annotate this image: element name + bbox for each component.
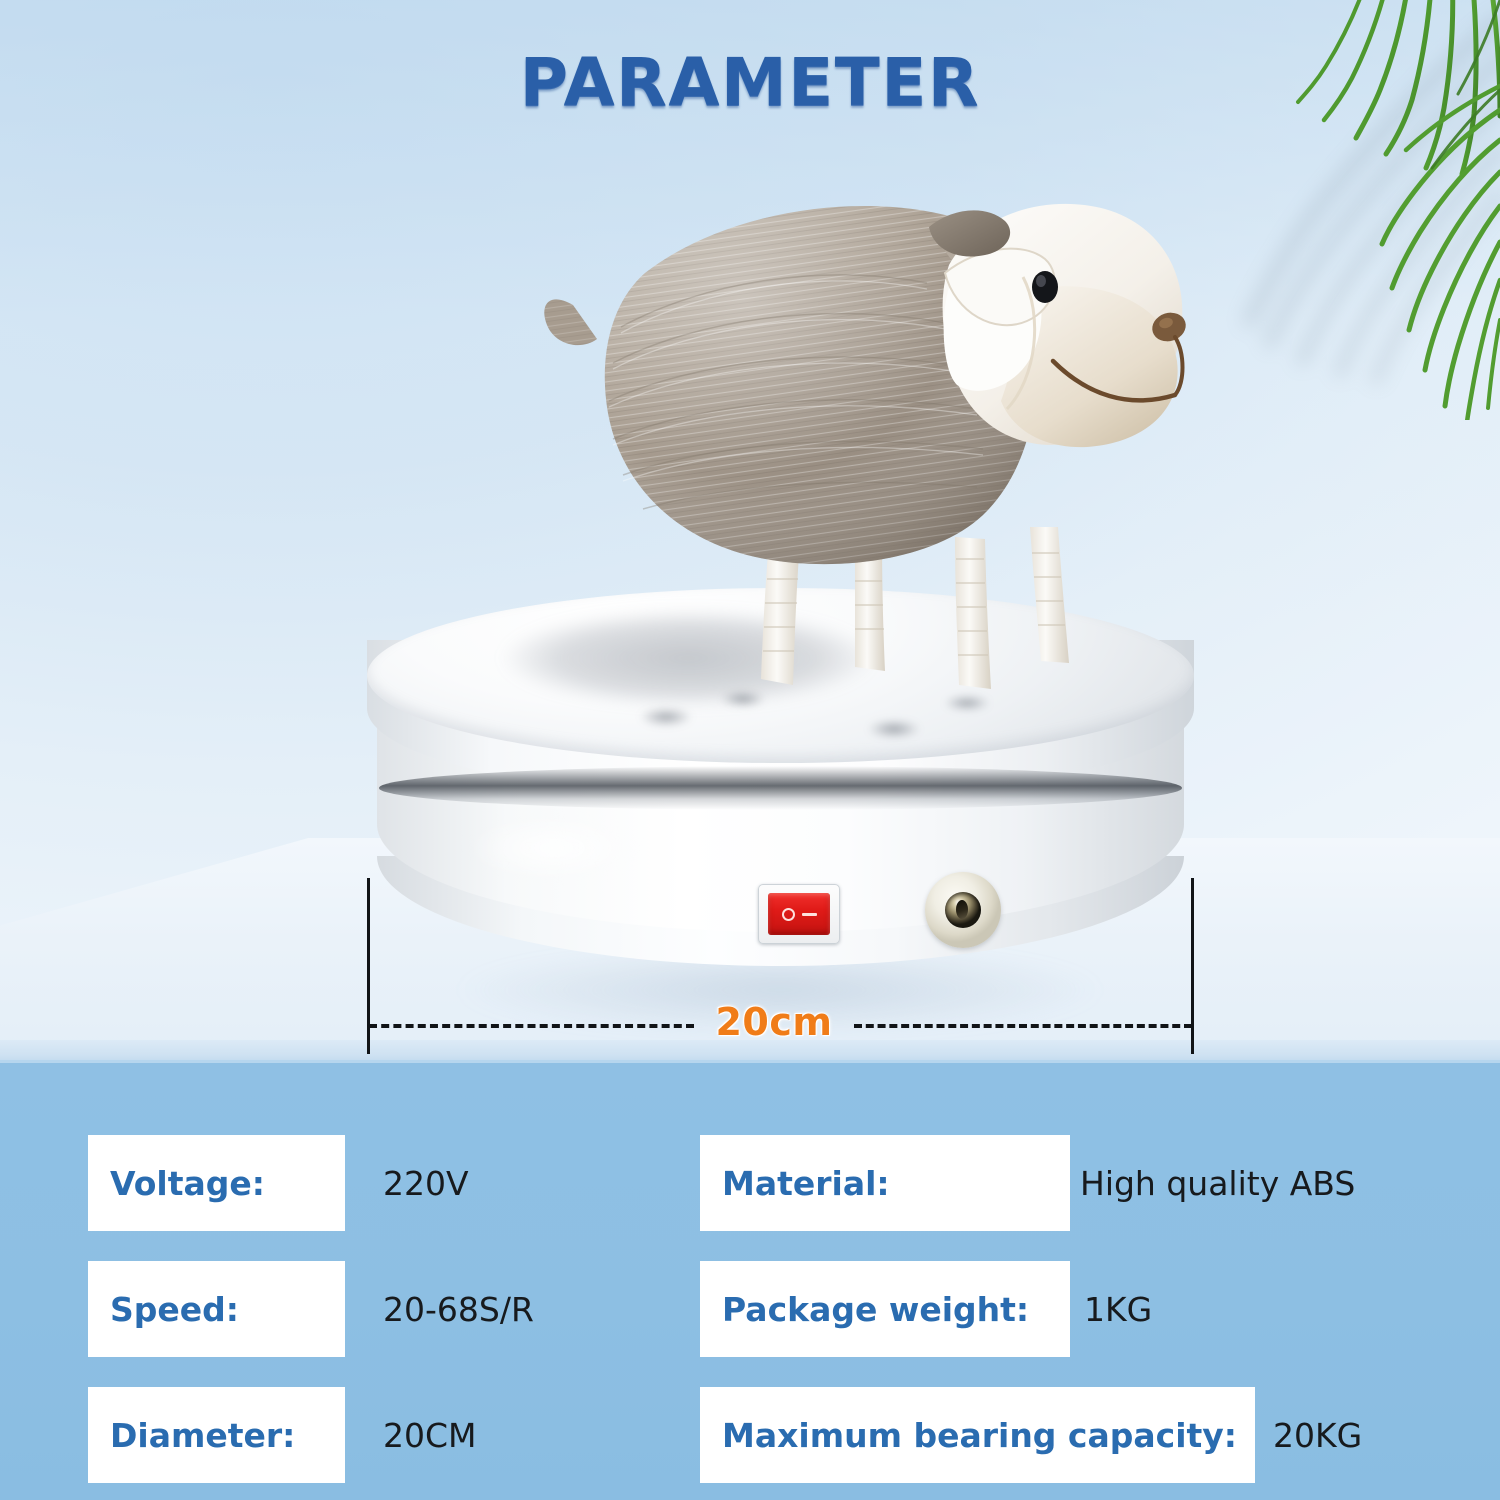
spec-label-speed: Speed: bbox=[88, 1261, 345, 1357]
felt-sheep-figurine bbox=[525, 155, 1205, 735]
spec-row: Speed: 20-68S/R Package weight: 1KG bbox=[0, 1261, 1500, 1357]
spec-cell-package-weight: Package weight: 1KG bbox=[700, 1261, 1152, 1357]
dc-power-jack-pin bbox=[956, 900, 968, 919]
spec-row: Voltage: 220V Material: High quality ABS bbox=[0, 1135, 1500, 1231]
specification-panel: Voltage: 220V Material: High quality ABS… bbox=[0, 1060, 1500, 1500]
spec-label-material: Material: bbox=[700, 1135, 1070, 1231]
dimension-label: 20cm bbox=[694, 1000, 854, 1044]
spec-label-package-weight: Package weight: bbox=[700, 1261, 1070, 1357]
spec-cell-voltage: Voltage: 220V bbox=[88, 1135, 469, 1231]
spec-value-diameter: 20CM bbox=[345, 1416, 477, 1455]
spec-cell-material: Material: High quality ABS bbox=[700, 1135, 1355, 1231]
dimension-line-left bbox=[369, 1024, 694, 1028]
dimension-line-right bbox=[854, 1024, 1192, 1028]
spec-cell-speed: Speed: 20-68S/R bbox=[88, 1261, 534, 1357]
spec-label-diameter: Diameter: bbox=[88, 1387, 345, 1483]
spec-value-voltage: 220V bbox=[345, 1164, 469, 1203]
spec-value-max-bearing-capacity: 20KG bbox=[1255, 1416, 1362, 1455]
switch-off-circle-icon bbox=[782, 908, 795, 921]
spec-value-package-weight: 1KG bbox=[1070, 1290, 1152, 1329]
dc-power-jack-hole bbox=[945, 892, 981, 928]
product-photo-scene: PARAMETER bbox=[0, 0, 1500, 1062]
spec-value-material: High quality ABS bbox=[1070, 1164, 1355, 1203]
spec-cell-diameter: Diameter: 20CM bbox=[88, 1387, 477, 1483]
page-title: PARAMETER bbox=[0, 44, 1500, 121]
spec-row: Diameter: 20CM Maximum bearing capacity:… bbox=[0, 1387, 1500, 1483]
spec-label-voltage: Voltage: bbox=[88, 1135, 345, 1231]
turntable-highlight bbox=[437, 803, 667, 893]
dc-power-jack[interactable] bbox=[925, 872, 1001, 948]
spec-label-max-bearing-capacity: Maximum bearing capacity: bbox=[700, 1387, 1255, 1483]
spec-cell-max-bearing-capacity: Maximum bearing capacity: 20KG bbox=[700, 1387, 1362, 1483]
rocker-switch-icon[interactable] bbox=[768, 893, 830, 935]
switch-on-bar-icon bbox=[802, 913, 817, 916]
power-switch[interactable] bbox=[758, 884, 840, 944]
spec-value-speed: 20-68S/R bbox=[345, 1290, 534, 1329]
